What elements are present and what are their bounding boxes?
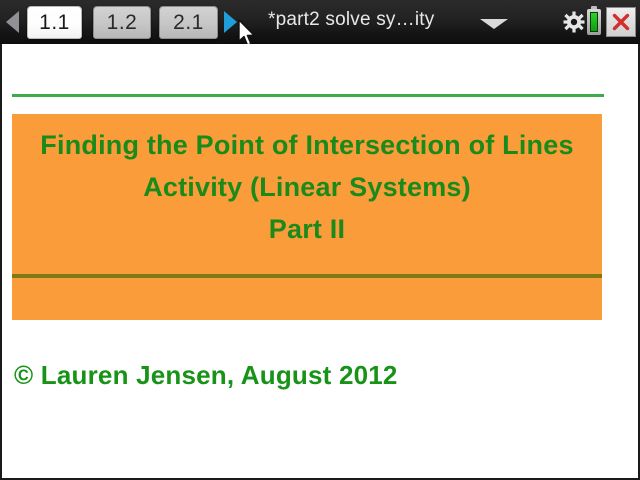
green-divider-rule [12,94,604,97]
battery-level-fill [590,12,598,32]
tab-1-1-label: 1.1 [39,11,70,35]
title-text-block: Finding the Point of Intersection of Lin… [12,124,602,250]
title-line-3: Part II [12,208,602,250]
top-toolbar: 1.1 1.2 2.1 *part2 solve sy…ity [0,0,640,44]
next-page-icon[interactable] [224,11,237,33]
gear-icon[interactable] [563,10,585,34]
mouse-pointer-icon [238,20,256,46]
copyright-text: © Lauren Jensen, August 2012 [14,360,398,391]
battery-icon[interactable] [587,9,601,35]
previous-page-icon[interactable] [6,11,19,33]
banner-underline [12,274,602,278]
chevron-down-icon[interactable] [480,19,508,29]
tab-1-2[interactable]: 1.2 [93,6,151,39]
tab-1-2-label: 1.2 [107,11,138,35]
title-line-1: Finding the Point of Intersection of Lin… [12,124,602,166]
document-title[interactable]: *part2 solve sy…ity [268,9,434,31]
title-banner: Finding the Point of Intersection of Lin… [12,114,602,320]
tab-1-1[interactable]: 1.1 [27,6,82,39]
tab-2-1-label: 2.1 [173,11,204,35]
calculator-screen: 1.1 1.2 2.1 *part2 solve sy…ity [0,0,640,480]
close-icon[interactable] [606,7,636,37]
title-line-2: Activity (Linear Systems) [12,166,602,208]
status-icon-group [563,5,636,39]
document-page: Finding the Point of Intersection of Lin… [0,44,640,480]
page-content: Finding the Point of Intersection of Lin… [2,44,638,478]
tab-2-1[interactable]: 2.1 [159,6,218,39]
